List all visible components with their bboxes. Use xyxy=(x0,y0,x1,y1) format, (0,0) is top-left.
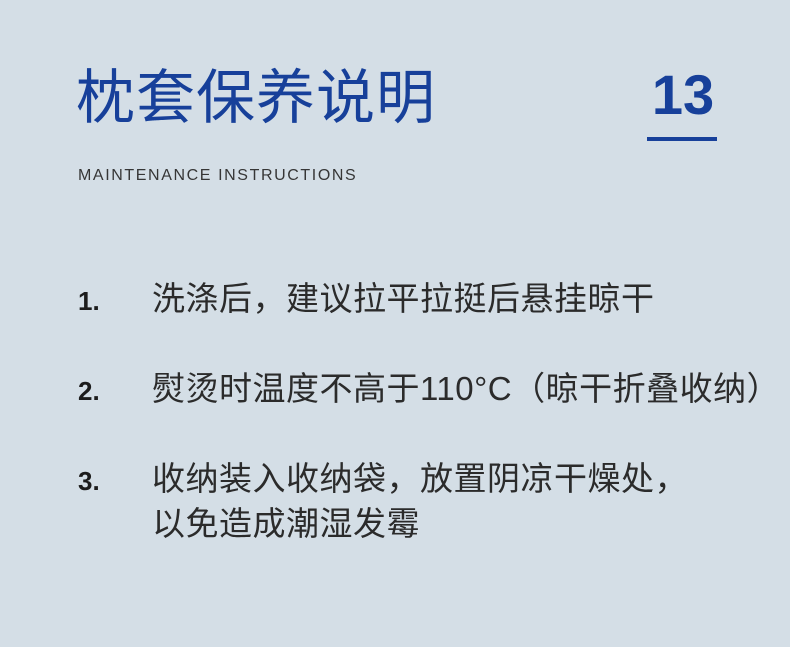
list-item: 2. 熨烫时温度不高于110°C（晾干折叠收纳） xyxy=(0,366,790,456)
list-item: 1. 洗涤后，建议拉平拉挺后悬挂晾干 xyxy=(0,276,790,366)
page-title: 枕套保养说明 xyxy=(76,62,436,134)
list-item-marker: 2. xyxy=(78,374,118,408)
maintenance-instructions-page: 枕套保养说明 MAINTENANCE INSTRUCTIONS 13 1. 洗涤… xyxy=(0,0,790,647)
page-subtitle: MAINTENANCE INSTRUCTIONS xyxy=(78,166,357,186)
list-item-line: 熨烫时温度不高于110°C（晾干折叠收纳） xyxy=(152,366,760,411)
list-item-marker: 1. xyxy=(78,284,118,318)
page-number-underline xyxy=(647,137,717,141)
page-number: 13 xyxy=(645,64,721,126)
list-item-line: 收纳装入收纳袋，放置阴凉干燥处， xyxy=(152,456,760,501)
instruction-list: 1. 洗涤后，建议拉平拉挺后悬挂晾干 2. 熨烫时温度不高于110°C（晾干折叠… xyxy=(0,276,790,546)
list-item-body: 洗涤后，建议拉平拉挺后悬挂晾干 xyxy=(152,276,760,321)
page-header: 枕套保养说明 MAINTENANCE INSTRUCTIONS 13 xyxy=(0,0,790,200)
list-item-line: 洗涤后，建议拉平拉挺后悬挂晾干 xyxy=(152,276,760,321)
list-item-line: 以免造成潮湿发霉 xyxy=(152,501,760,546)
list-item-body: 收纳装入收纳袋，放置阴凉干燥处， 以免造成潮湿发霉 xyxy=(152,456,760,546)
list-item-marker: 3. xyxy=(78,464,118,498)
list-item-body: 熨烫时温度不高于110°C（晾干折叠收纳） xyxy=(152,366,760,411)
list-item: 3. 收纳装入收纳袋，放置阴凉干燥处， 以免造成潮湿发霉 xyxy=(0,456,790,546)
page-number-block: 13 xyxy=(645,64,721,141)
